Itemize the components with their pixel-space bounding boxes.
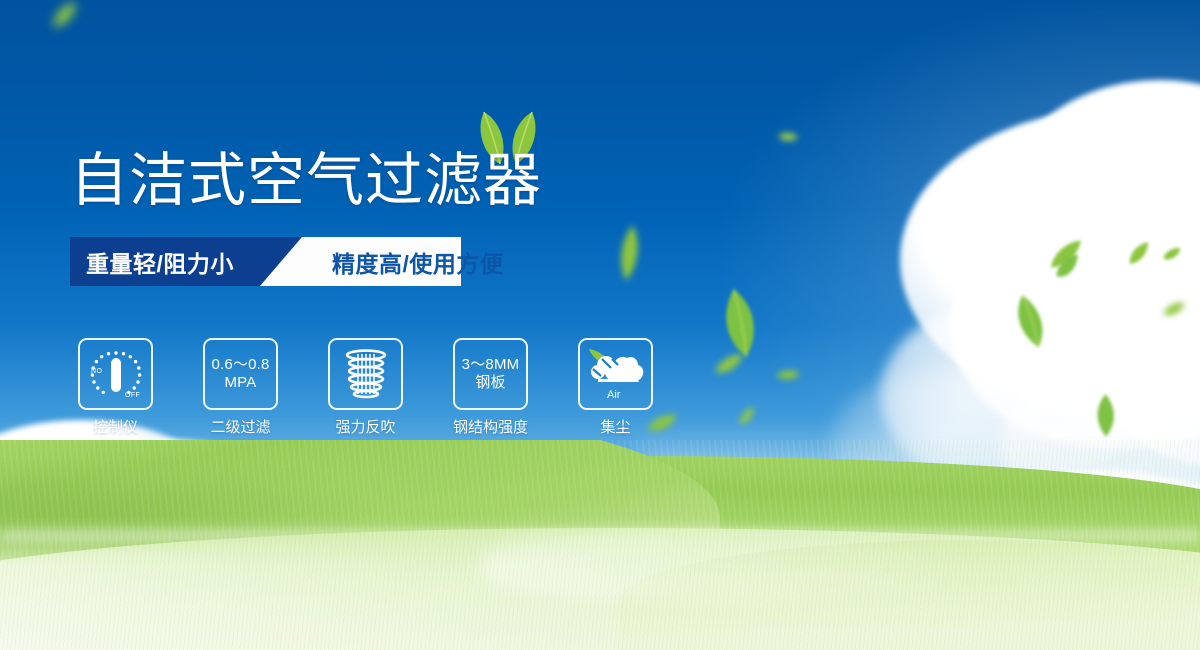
steel-plate-text-icon: 3～8MM 钢板 (462, 356, 520, 392)
feature-item-pressure[interactable]: 0.6～0.8 MPA 二级过滤 (203, 338, 278, 437)
product-hero-banner: 自洁式空气过滤器 重量轻/阻力小 精度高/使用方便 (0, 0, 1200, 650)
feature-icon-box: NO OFF (78, 338, 153, 410)
feature-icon-box (328, 338, 403, 410)
page-title: 自洁式空气过滤器 (70, 147, 542, 215)
pressure-text-icon: 0.6～0.8 MPA (211, 356, 269, 392)
feature-icon-box: 0.6～0.8 MPA (203, 338, 278, 410)
feature-item-control[interactable]: NO OFF 控制仪 (78, 338, 153, 437)
feature-icon-box: Air (578, 338, 653, 410)
feature-item-steel[interactable]: 3～8MM 钢板 钢结构强度 (453, 338, 528, 437)
svg-text:OFF: OFF (125, 392, 140, 399)
feature-label: 强力反吹 (328, 419, 403, 437)
filter-cartridge-icon (335, 345, 397, 403)
feature-item-backblow[interactable]: 强力反吹 (328, 338, 403, 437)
feature-item-dust[interactable]: Air 集尘 (578, 338, 653, 437)
feature-label: 钢结构强度 (433, 419, 548, 437)
feature-label: 集尘 (578, 419, 653, 437)
subtitle-right-text: 精度高/使用方便 (332, 237, 503, 286)
svg-text:Air: Air (607, 389, 621, 401)
svg-text:NO: NO (91, 368, 102, 375)
banner-content: 自洁式空气过滤器 重量轻/阻力小 精度高/使用方便 (0, 0, 1200, 650)
subtitle-left-text: 重量轻/阻力小 (86, 237, 234, 286)
feature-label: 控制仪 (78, 419, 153, 437)
control-gauge-icon: NO OFF (85, 345, 147, 403)
feature-icon-box: 3～8MM 钢板 (453, 338, 528, 410)
feature-label: 二级过滤 (203, 419, 278, 437)
air-cloud-icon: Air (585, 345, 647, 403)
